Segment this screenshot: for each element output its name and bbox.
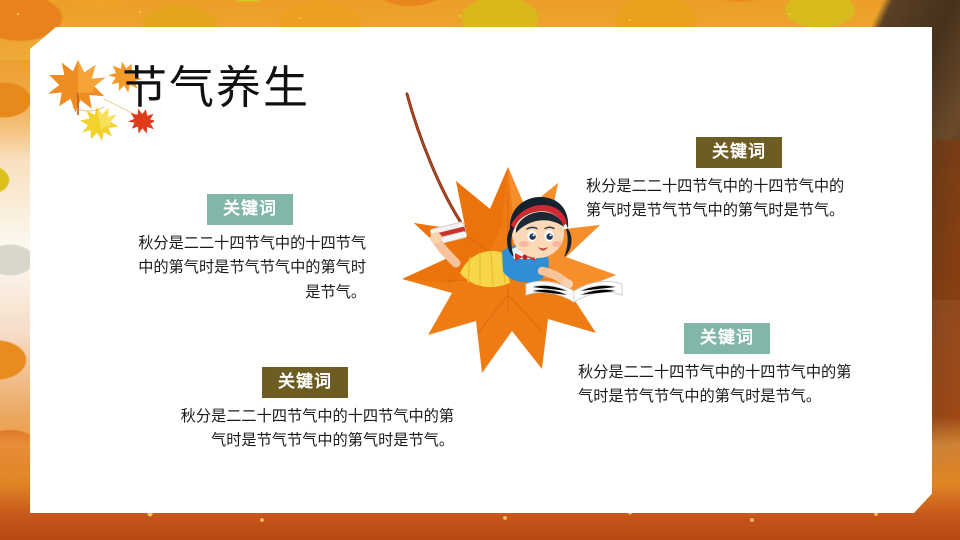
keyword-badge-top-left[interactable]: 关键词 bbox=[207, 194, 293, 225]
badge-wrap-bottom-right: 关键词 bbox=[578, 323, 854, 354]
keyword-badge-bottom-left[interactable]: 关键词 bbox=[262, 367, 348, 398]
keyword-block-top-right: 关键词 秋分是二二十四节气中的十四节气中的第气时是节气节气中的第气时是节气。 bbox=[586, 137, 852, 224]
keyword-block-top-left: 关键词 秋分是二二十四节气中的十四节气中的第气时是节气节气中的第气时是节气。 bbox=[134, 194, 366, 305]
keyword-text-top-right: 秋分是二二十四节气中的十四节气中的第气时是节气节气中的第气时是节气。 bbox=[586, 175, 852, 224]
content-card: 节气养生 bbox=[30, 27, 932, 513]
keyword-text-bottom-left: 秋分是二二十四节气中的十四节气中的第气时是节气节气中的第气时是节气。 bbox=[178, 405, 454, 454]
badge-wrap-top-left: 关键词 bbox=[134, 194, 366, 225]
keyword-text-bottom-right: 秋分是二二十四节气中的十四节气中的第气时是节气节气中的第气时是节气。 bbox=[578, 361, 854, 410]
keyword-text-top-left: 秋分是二二十四节气中的十四节气中的第气时是节气节气中的第气时是节气。 bbox=[134, 232, 366, 306]
badge-wrap-bottom-left: 关键词 bbox=[178, 367, 454, 398]
keyword-block-bottom-right: 关键词 秋分是二二十四节气中的十四节气中的第气时是节气节气中的第气时是节气。 bbox=[578, 323, 854, 410]
badge-wrap-top-right: 关键词 bbox=[586, 137, 852, 168]
keyword-block-bottom-left: 关键词 秋分是二二十四节气中的十四节气中的第气时是节气节气中的第气时是节气。 bbox=[178, 367, 454, 454]
keyword-badge-top-right[interactable]: 关键词 bbox=[696, 137, 782, 168]
slide-root: 节气养生 bbox=[0, 0, 960, 540]
keyword-badge-bottom-right[interactable]: 关键词 bbox=[684, 323, 770, 354]
page-title: 节气养生 bbox=[122, 65, 310, 110]
